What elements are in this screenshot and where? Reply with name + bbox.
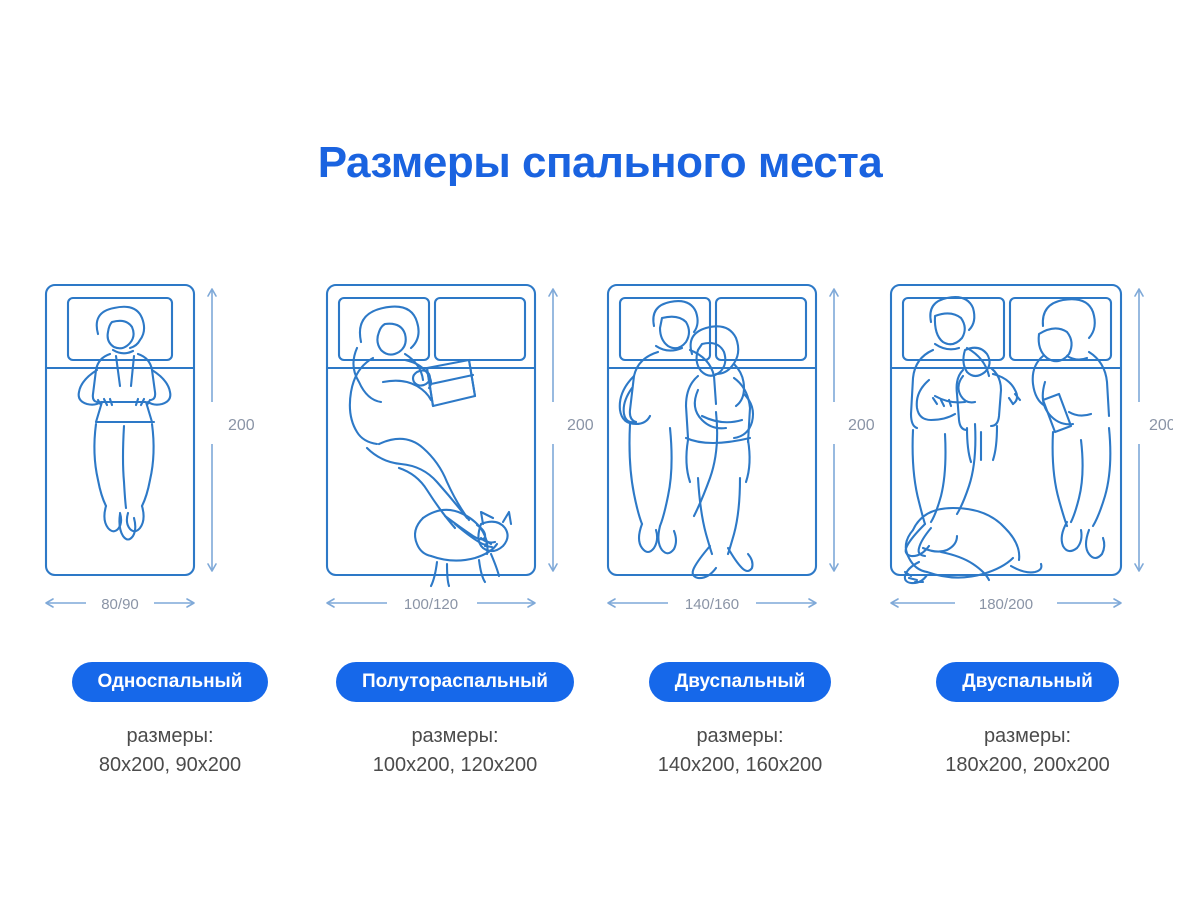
book — [427, 360, 475, 406]
baby-head — [963, 348, 989, 376]
bed-card-single: 200 80/90 Односпальный размеры: 80x200, … — [28, 272, 313, 792]
badge-one-and-half[interactable]: Полутораспальный — [336, 662, 574, 702]
caption-line-2: 80x200, 90x200 — [99, 751, 241, 780]
bed-illustration-double-large: 200 — [883, 272, 1173, 592]
caption-line-1: размеры: — [99, 722, 241, 751]
laptop — [96, 402, 152, 422]
dimension-height-label-one-and-half: 200 — [567, 417, 594, 434]
bed-card-double: 200 140/160 Двуспальный размеры: 140x200… — [598, 272, 883, 792]
bed-diagram-one-and-half: 200 — [313, 272, 598, 592]
figure-woman-reading-book — [349, 307, 486, 545]
mattress-outline — [327, 285, 535, 575]
caption-line-1: размеры: — [658, 722, 823, 751]
figure-woman — [686, 326, 753, 578]
figure-baby — [956, 348, 1019, 462]
phone — [1043, 394, 1071, 432]
bed-diagram-double: 200 — [598, 272, 883, 592]
figure-dog — [904, 508, 1041, 583]
bed-diagram-double-large: 200 — [883, 272, 1173, 592]
bed-diagram-single: 200 — [28, 272, 313, 592]
figure-father — [1032, 299, 1110, 558]
caption-line-2: 100x200, 120x200 — [373, 751, 538, 780]
bed-illustration-double: 200 — [598, 272, 883, 592]
dog-ear — [923, 536, 957, 552]
caption-double-large: размеры: 180x200, 200x200 — [945, 722, 1110, 780]
caption-line-1: размеры: — [373, 722, 538, 751]
bed-illustration-one-and-half: 200 — [313, 272, 598, 592]
badge-double[interactable]: Двуспальный — [649, 662, 832, 702]
badge-double-large[interactable]: Двуспальный — [936, 662, 1119, 702]
pillow-left — [903, 298, 1004, 360]
figure-mother — [905, 297, 988, 556]
mattress-outline — [891, 285, 1121, 575]
figure-woman-with-laptop — [78, 307, 170, 540]
dimension-height-label-double: 200 — [848, 417, 875, 434]
bed-card-double-large: 200 180/200 Двуспальный размеры: 180x200… — [883, 272, 1173, 792]
caption-double: размеры: 140x200, 160x200 — [658, 722, 823, 780]
caption-one-and-half: размеры: 100x200, 120x200 — [373, 722, 538, 780]
dog-tail — [1011, 564, 1041, 572]
dimension-vertical-double — [830, 289, 838, 571]
caption-line-2: 140x200, 160x200 — [658, 751, 823, 780]
dimension-height-label-single: 200 — [228, 417, 255, 434]
caption-line-1: размеры: — [945, 722, 1110, 751]
pillow-right — [435, 298, 525, 360]
caption-single: размеры: 80x200, 90x200 — [99, 722, 241, 780]
page-title: Размеры спального места — [0, 138, 1200, 188]
dimension-width-label-double-large: 180/200 — [978, 596, 1032, 613]
badge-single[interactable]: Односпальный — [72, 662, 269, 702]
caption-line-2: 180x200, 200x200 — [945, 751, 1110, 780]
dimension-height-label-double-large: 200 — [1149, 417, 1173, 434]
dimension-vertical-one-and-half — [549, 289, 557, 571]
bed-columns: 200 80/90 Односпальный размеры: 80x200, … — [0, 272, 1200, 792]
infographic-page: Размеры спального места — [0, 0, 1200, 900]
dimension-width-label-double: 140/160 — [684, 596, 738, 613]
bed-illustration-single: 200 — [28, 272, 313, 592]
dimension-width-label-single: 80/90 — [101, 596, 139, 613]
dimension-width-label-one-and-half: 100/120 — [403, 596, 457, 613]
dimension-vertical-double-large — [1135, 289, 1143, 571]
bed-card-one-and-half: 200 100/120 Полутораспальный размеры: 10… — [313, 272, 598, 792]
dimension-vertical-single — [208, 289, 216, 571]
cat-head — [478, 522, 507, 551]
